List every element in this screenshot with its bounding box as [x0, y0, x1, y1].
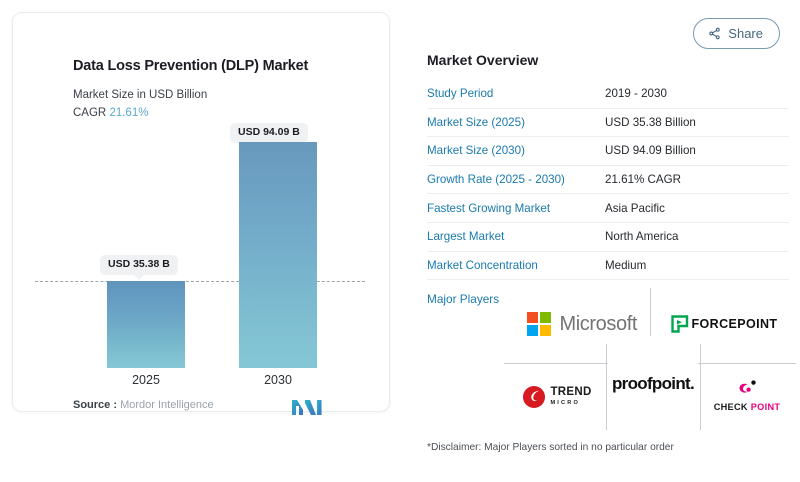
table-row: Market Size (2025) USD 35.38 Billion [427, 109, 789, 138]
share-button[interactable]: Share [693, 18, 780, 49]
chart-subtitle: Market Size in USD Billion [73, 89, 207, 101]
microsoft-label: Microsoft [559, 313, 637, 336]
overview-table: Study Period 2019 - 2030 Market Size (20… [427, 80, 789, 280]
trend-micro-logo-icon [522, 385, 546, 409]
share-nodes-icon [708, 27, 721, 40]
bar-2030[interactable] [239, 142, 317, 368]
row-value: USD 94.09 Billion [605, 144, 696, 157]
market-overview-panel: Share Market Overview Study Period 2019 … [412, 0, 800, 482]
row-key: Market Size (2030) [427, 144, 605, 157]
row-key: Study Period [427, 87, 605, 100]
cagr-label: CAGR [73, 107, 106, 119]
data-label-2030: USD 94.09 B [230, 123, 308, 143]
logo-trend-micro[interactable]: TREND MICRO [510, 372, 604, 422]
table-row: Market Size (2030) USD 94.09 Billion [427, 137, 789, 166]
microsoft-logo-icon [527, 312, 552, 337]
bar-chart-plot: USD 94.09 B USD 35.38 B 2025 2030 [27, 123, 377, 368]
row-value: 2019 - 2030 [605, 87, 667, 100]
row-key: Fastest Growing Market [427, 202, 605, 215]
check-point-wrap: CHECK POINT [714, 380, 781, 412]
forcepoint-logo-icon [671, 315, 689, 333]
row-value: Medium [605, 259, 646, 272]
row-value: USD 35.38 Billion [605, 116, 696, 129]
table-row: Growth Rate (2025 - 2030) 21.61% CAGR [427, 166, 789, 195]
row-key: Market Concentration [427, 259, 605, 272]
table-row: Market Concentration Medium [427, 252, 789, 281]
dlp-market-infographic: Data Loss Prevention (DLP) Market Market… [0, 0, 800, 482]
check-point-label: CHECK POINT [714, 402, 781, 412]
major-players-grid: Microsoft FORCEPOINT TREND MICRO [504, 288, 796, 430]
source-line: Source : Mordor Intelligence [73, 399, 214, 411]
trend-micro-label-line2: MICRO [550, 401, 591, 407]
chart-card: Data Loss Prevention (DLP) Market Market… [12, 12, 390, 412]
disclaimer-text: *Disclaimer: Major Players sorted in no … [427, 442, 674, 453]
logo-proofpoint[interactable]: proofpoint. [608, 340, 698, 428]
row-value: North America [605, 230, 678, 243]
proofpoint-label: proofpoint. [612, 374, 694, 394]
check-point-label-point: POINT [751, 402, 781, 412]
row-key: Growth Rate (2025 - 2030) [427, 173, 605, 186]
forcepoint-label: FORCEPOINT [692, 317, 778, 331]
trend-micro-label: TREND MICRO [550, 387, 591, 406]
mordor-intelligence-logo-icon [290, 397, 324, 417]
table-row: Largest Market North America [427, 223, 789, 252]
chart-title: Data Loss Prevention (DLP) Market [73, 58, 308, 74]
cagr-value: 21.61% [109, 107, 148, 119]
panel-title: Market Overview [427, 52, 538, 68]
data-label-2025: USD 35.38 B [100, 255, 178, 275]
table-row: Study Period 2019 - 2030 [427, 80, 789, 109]
row-key: Largest Market [427, 230, 605, 243]
chart-cagr: CAGR 21.61% [73, 107, 148, 119]
source-label: Source : [73, 399, 117, 411]
row-key: Market Size (2025) [427, 116, 605, 129]
bar-2025[interactable] [107, 281, 185, 368]
source-name: Mordor Intelligence [120, 399, 214, 411]
grid-divider-vertical-bottom-right [700, 344, 701, 430]
grid-divider-vertical-bottom-left [606, 344, 607, 430]
x-tick-2025: 2025 [107, 373, 185, 387]
logo-check-point[interactable]: CHECK POINT [704, 368, 790, 424]
share-button-label: Share [728, 26, 763, 41]
check-point-label-check: CHECK [714, 402, 748, 412]
grid-divider-vertical-top [650, 288, 651, 336]
row-value: Asia Pacific [605, 202, 665, 215]
table-row: Fastest Growing Market Asia Pacific [427, 194, 789, 223]
major-players-title: Major Players [427, 292, 499, 306]
row-value: 21.61% CAGR [605, 173, 681, 186]
x-tick-2030: 2030 [239, 373, 317, 387]
check-point-logo-icon [736, 380, 758, 398]
trend-micro-label-line1: TREND [550, 387, 591, 399]
